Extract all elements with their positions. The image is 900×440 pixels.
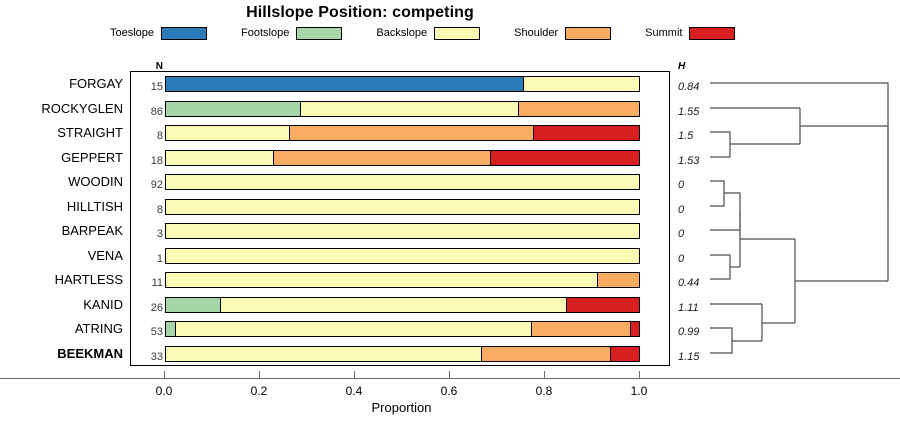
bar-segment-shoulder: [289, 126, 532, 140]
table-row: BEEKMAN331.15: [131, 342, 669, 367]
stacked-bar: [165, 101, 640, 117]
row-label-geppert: GEPPERT: [61, 146, 123, 171]
bar-segment-backslope: [166, 126, 289, 140]
table-row: ROCKYGLEN861.55: [131, 97, 669, 122]
bar-segment-backslope: [166, 200, 639, 214]
legend-label: Footslope: [241, 27, 289, 39]
table-row: WOODIN920: [131, 170, 669, 195]
bar-segment-shoulder: [518, 102, 639, 116]
stacked-bar: [165, 125, 640, 141]
row-label-kanid: KANID: [83, 293, 123, 318]
bar-segment-backslope: [166, 273, 597, 287]
row-h-value: 0: [678, 219, 684, 244]
h-column-header: H: [678, 61, 685, 72]
x-tick-label: 0.2: [251, 384, 268, 398]
row-label-forgay: FORGAY: [69, 72, 123, 97]
bar-segment-backslope: [166, 224, 639, 238]
table-row: ATRING530.99: [131, 317, 669, 342]
table-row: HILLTISH80: [131, 195, 669, 220]
row-label-vena: VENA: [88, 244, 123, 269]
stacked-bar: [165, 272, 640, 288]
bar-segment-backslope: [166, 249, 639, 263]
table-row: FORGAY150.84: [131, 72, 669, 97]
x-axis-ticks: 0.00.20.40.60.81.0: [164, 378, 639, 379]
bar-segment-backslope: [523, 77, 639, 91]
stacked-bar: [165, 174, 640, 190]
legend-label: Summit: [645, 27, 682, 39]
bar-segment-backslope: [166, 151, 273, 165]
bar-segment-summit: [610, 347, 639, 361]
x-tick: [449, 371, 450, 378]
row-h-value: 0.99: [678, 317, 699, 342]
bar-segment-backslope: [175, 322, 531, 336]
row-h-value: 1.15: [678, 342, 699, 367]
row-n-value: 1: [133, 244, 163, 269]
legend-swatch-summit: [689, 27, 735, 40]
legend-label: Shoulder: [514, 27, 558, 39]
table-row: STRAIGHT81.5: [131, 121, 669, 146]
row-n-value: 33: [133, 342, 163, 367]
x-axis-title: Proportion: [164, 400, 639, 415]
row-n-value: 26: [133, 293, 163, 318]
stacked-bar: [165, 150, 640, 166]
chart-root: Hillslope Position: competing ToeslopeFo…: [0, 0, 900, 440]
stacked-bar: [165, 297, 640, 313]
row-n-value: 8: [133, 121, 163, 146]
row-n-value: 92: [133, 170, 163, 195]
stacked-bar: [165, 248, 640, 264]
table-row: HARTLESS110.44: [131, 268, 669, 293]
n-column-header: N: [133, 61, 163, 72]
legend-swatch-footslope: [296, 27, 342, 40]
bar-segment-shoulder: [273, 151, 490, 165]
row-label-beekman: BEEKMAN: [57, 342, 123, 367]
table-row: GEPPERT181.53: [131, 146, 669, 171]
legend-item-backslope: Backslope: [376, 27, 514, 40]
stacked-bar: [165, 346, 640, 362]
bar-segment-backslope: [166, 347, 481, 361]
table-row: BARPEAK30: [131, 219, 669, 244]
legend-swatch-backslope: [434, 27, 480, 40]
bar-segment-summit: [566, 298, 639, 312]
row-label-hartless: HARTLESS: [55, 268, 123, 293]
x-tick-label: 0.8: [536, 384, 553, 398]
row-n-value: 18: [133, 146, 163, 171]
legend-item-summit: Summit: [645, 27, 735, 40]
table-row: VENA10: [131, 244, 669, 269]
x-tick: [354, 371, 355, 378]
dendrogram: [700, 71, 898, 366]
stacked-bar: [165, 321, 640, 337]
table-row: KANID261.11: [131, 293, 669, 318]
row-label-atring: ATRING: [75, 317, 123, 342]
row-label-hilltish: HILLTISH: [67, 195, 123, 220]
legend-label: Toeslope: [110, 27, 154, 39]
bar-segment-summit: [533, 126, 639, 140]
bar-segment-footslope: [166, 298, 220, 312]
bar-segment-footslope: [166, 322, 175, 336]
row-h-value: 1.11: [678, 293, 699, 318]
row-h-value: 0.44: [678, 268, 699, 293]
stacked-bar: [165, 76, 640, 92]
row-h-value: 0.84: [678, 72, 699, 97]
x-tick-label: 0.4: [346, 384, 363, 398]
row-h-value: 1.55: [678, 97, 699, 122]
bar-segment-footslope: [166, 102, 300, 116]
x-tick: [639, 371, 640, 378]
x-tick: [544, 371, 545, 378]
page-title: Hillslope Position: competing: [0, 4, 720, 22]
row-n-value: 11: [133, 268, 163, 293]
legend-item-shoulder: Shoulder: [514, 27, 645, 40]
bar-segment-shoulder: [597, 273, 639, 287]
bar-segment-backslope: [300, 102, 518, 116]
row-h-value: 1.53: [678, 146, 699, 171]
stacked-bar: [165, 199, 640, 215]
dendrogram-svg: [700, 71, 898, 366]
x-tick-label: 0.6: [441, 384, 458, 398]
bar-segment-shoulder: [481, 347, 611, 361]
bar-segment-backslope: [166, 175, 639, 189]
row-label-rockyglen: ROCKYGLEN: [41, 97, 123, 122]
bar-segment-toeslope: [166, 77, 523, 91]
bar-rows: FORGAY150.84ROCKYGLEN861.55STRAIGHT81.5G…: [131, 72, 669, 365]
row-n-value: 15: [133, 72, 163, 97]
legend-item-footslope: Footslope: [241, 27, 376, 40]
x-tick: [164, 371, 165, 378]
row-label-barpeak: BARPEAK: [62, 219, 123, 244]
x-tick-label: 0.0: [156, 384, 173, 398]
legend-label: Backslope: [376, 27, 427, 39]
row-n-value: 86: [133, 97, 163, 122]
row-h-value: 0: [678, 244, 684, 269]
row-n-value: 53: [133, 317, 163, 342]
x-tick: [259, 371, 260, 378]
row-n-value: 3: [133, 219, 163, 244]
legend-swatch-toeslope: [161, 27, 207, 40]
row-label-straight: STRAIGHT: [57, 121, 123, 146]
legend: ToeslopeFootslopeBackslopeShoulderSummit: [110, 24, 710, 42]
plot-panel: N H FORGAY150.84ROCKYGLEN861.55STRAIGHT8…: [130, 71, 670, 366]
row-label-woodin: WOODIN: [68, 170, 123, 195]
stacked-bar: [165, 223, 640, 239]
legend-swatch-shoulder: [565, 27, 611, 40]
bar-segment-shoulder: [531, 322, 629, 336]
row-n-value: 8: [133, 195, 163, 220]
bar-segment-summit: [630, 322, 639, 336]
legend-item-toeslope: Toeslope: [110, 27, 241, 40]
row-h-value: 0: [678, 170, 684, 195]
bar-segment-backslope: [220, 298, 566, 312]
x-tick-label: 1.0: [631, 384, 648, 398]
row-h-value: 1.5: [678, 121, 693, 146]
bar-segment-summit: [490, 151, 639, 165]
row-h-value: 0: [678, 195, 684, 220]
